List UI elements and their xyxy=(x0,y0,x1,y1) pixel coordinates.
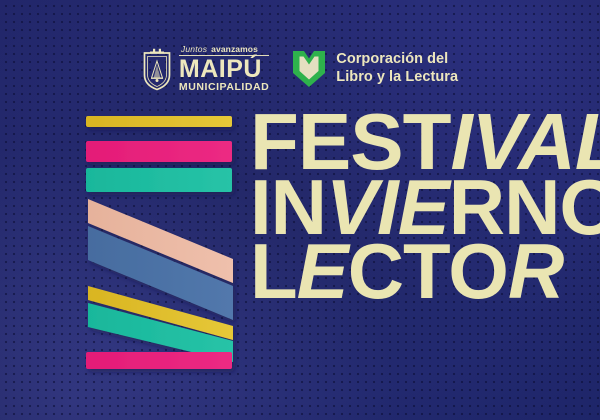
maipu-municipalidad-logo: Juntos avanzamos MAIPÚ MUNICIPALIDAD xyxy=(142,45,269,94)
maipu-divider-top xyxy=(179,55,269,56)
maipu-name: MAIPÚ xyxy=(179,57,262,81)
title-e: E xyxy=(297,240,348,302)
tagline-bold: avanzamos xyxy=(211,45,258,54)
sponsor-logos: Juntos avanzamos MAIPÚ MUNICIPALIDAD Cor… xyxy=(0,38,600,100)
corporacion-libro-lectura-logo: Corporación del Libro y la Lectura xyxy=(291,49,458,89)
title-r: R xyxy=(508,240,563,302)
tagline-light: Juntos xyxy=(181,45,207,54)
maipu-coat-of-arms-icon xyxy=(142,47,172,91)
corporacion-line1: Corporación del xyxy=(336,51,458,69)
corporacion-wordmark: Corporación del Libro y la Lectura xyxy=(336,51,458,86)
maipu-subtitle: MUNICIPALIDAD xyxy=(179,82,269,93)
page-title: FESTIVAL INVIERNO LECTOR xyxy=(250,110,600,303)
title-line-lector: LECTOR xyxy=(250,240,600,302)
corporacion-line2: Libro y la Lectura xyxy=(336,69,458,87)
festival-poster: Juntos avanzamos MAIPÚ MUNICIPALIDAD Cor… xyxy=(0,0,600,420)
maipu-tagline: Juntos avanzamos xyxy=(179,45,258,54)
title-l: L xyxy=(250,240,297,302)
maipu-wordmark: Juntos avanzamos MAIPÚ MUNICIPALIDAD xyxy=(179,45,269,94)
chevron-shield-icon xyxy=(291,49,327,89)
title-cto: CTO xyxy=(348,240,508,302)
